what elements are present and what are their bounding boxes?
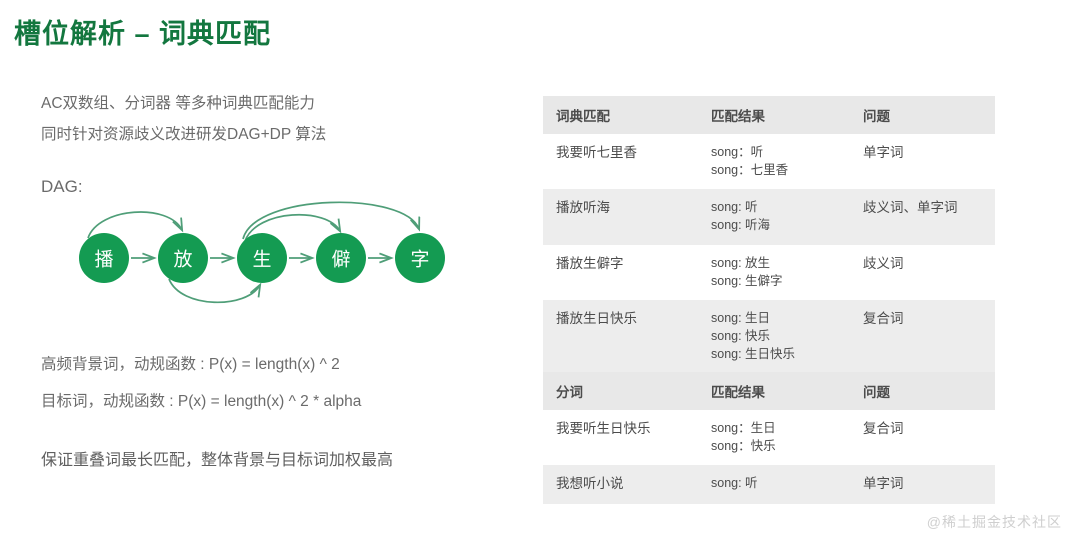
cell-term: 我要听生日快乐: [543, 410, 698, 465]
column-header-issue: 问题: [850, 96, 995, 134]
column-header-result: 匹配结果: [698, 372, 850, 410]
column-header-term: 分词: [543, 372, 698, 410]
result-line: song：快乐: [711, 437, 850, 455]
watermark: @稀土掘金技术社区: [927, 512, 1062, 532]
cell-result: song: 听 song: 听海: [698, 189, 850, 244]
cell-result: song：听 song：七里香: [698, 134, 850, 189]
intro-line-1: AC双数组、分词器 等多种词典匹配能力: [41, 91, 315, 113]
dag-node-fang[interactable]: [158, 233, 208, 283]
dag-graph-svg: [55, 185, 475, 315]
dag-node-zi[interactable]: [395, 233, 445, 283]
slide-canvas: 槽位解析 – 词典匹配 AC双数组、分词器 等多种词典匹配能力 同时针对资源歧义…: [0, 0, 1080, 544]
cell-term: 我要听七里香: [543, 134, 698, 189]
dag-node-pi[interactable]: [316, 233, 366, 283]
table-row: 播放生日快乐 song: 生日 song: 快乐 song: 生日快乐 复合词: [543, 300, 995, 373]
cell-result: song: 听: [698, 465, 850, 504]
cell-issue: 单字词: [850, 465, 995, 504]
result-line: song: 生日快乐: [711, 345, 850, 363]
formula-line-1: 高频背景词，动规函数 : P(x) = length(x) ^ 2: [41, 352, 340, 374]
result-line: song: 生日: [711, 309, 850, 327]
table-row: 播放生僻字 song: 放生 song: 生僻字 歧义词: [543, 245, 995, 300]
cell-term: 播放生日快乐: [543, 300, 698, 373]
result-line: song: 听: [711, 198, 850, 216]
cell-term: 播放听海: [543, 189, 698, 244]
table-row: 我要听七里香 song：听 song：七里香 单字词: [543, 134, 995, 189]
result-line: song: 听: [711, 474, 850, 492]
dag-diagram: 播 放 生 僻 字: [55, 185, 475, 315]
table-row: 我要听生日快乐 song：生日 song：快乐 复合词: [543, 410, 995, 465]
table-header-row: 分词 匹配结果 问题: [543, 372, 995, 410]
conclusion-line: 保证重叠词最长匹配，整体背景与目标词加权最高: [41, 446, 393, 470]
cell-issue: 歧义词: [850, 245, 995, 300]
cell-term: 播放生僻字: [543, 245, 698, 300]
segmentation-table: 分词 匹配结果 问题 我要听生日快乐 song：生日 song：快乐 复合词 我…: [543, 372, 995, 504]
table-header-row: 词典匹配 匹配结果 问题: [543, 96, 995, 134]
result-line: song: 放生: [711, 254, 850, 272]
intro-line-2: 同时针对资源歧义改进研发DAG+DP 算法: [41, 122, 326, 144]
cell-result: song: 生日 song: 快乐 song: 生日快乐: [698, 300, 850, 373]
column-header-issue: 问题: [850, 372, 995, 410]
cell-issue: 单字词: [850, 134, 995, 189]
column-header-term: 词典匹配: [543, 96, 698, 134]
cell-term: 我想听小说: [543, 465, 698, 504]
result-line: song: 快乐: [711, 327, 850, 345]
cell-result: song: 放生 song: 生僻字: [698, 245, 850, 300]
result-line: song：七里香: [711, 161, 850, 179]
table-row: 播放听海 song: 听 song: 听海 歧义词、单字词: [543, 189, 995, 244]
result-line: song: 听海: [711, 216, 850, 234]
cell-issue: 复合词: [850, 300, 995, 373]
result-line: song: 生僻字: [711, 272, 850, 290]
result-line: song：生日: [711, 419, 850, 437]
dictionary-match-table: 词典匹配 匹配结果 问题 我要听七里香 song：听 song：七里香 单字词 …: [543, 96, 995, 373]
page-title: 槽位解析 – 词典匹配: [14, 12, 271, 51]
dag-node-sheng[interactable]: [237, 233, 287, 283]
table-row: 我想听小说 song: 听 单字词: [543, 465, 995, 504]
cell-result: song：生日 song：快乐: [698, 410, 850, 465]
cell-issue: 歧义词、单字词: [850, 189, 995, 244]
dag-node-bo[interactable]: [79, 233, 129, 283]
result-line: song：听: [711, 143, 850, 161]
column-header-result: 匹配结果: [698, 96, 850, 134]
formula-line-2: 目标词，动规函数 : P(x) = length(x) ^ 2 * alpha: [41, 389, 361, 411]
cell-issue: 复合词: [850, 410, 995, 465]
